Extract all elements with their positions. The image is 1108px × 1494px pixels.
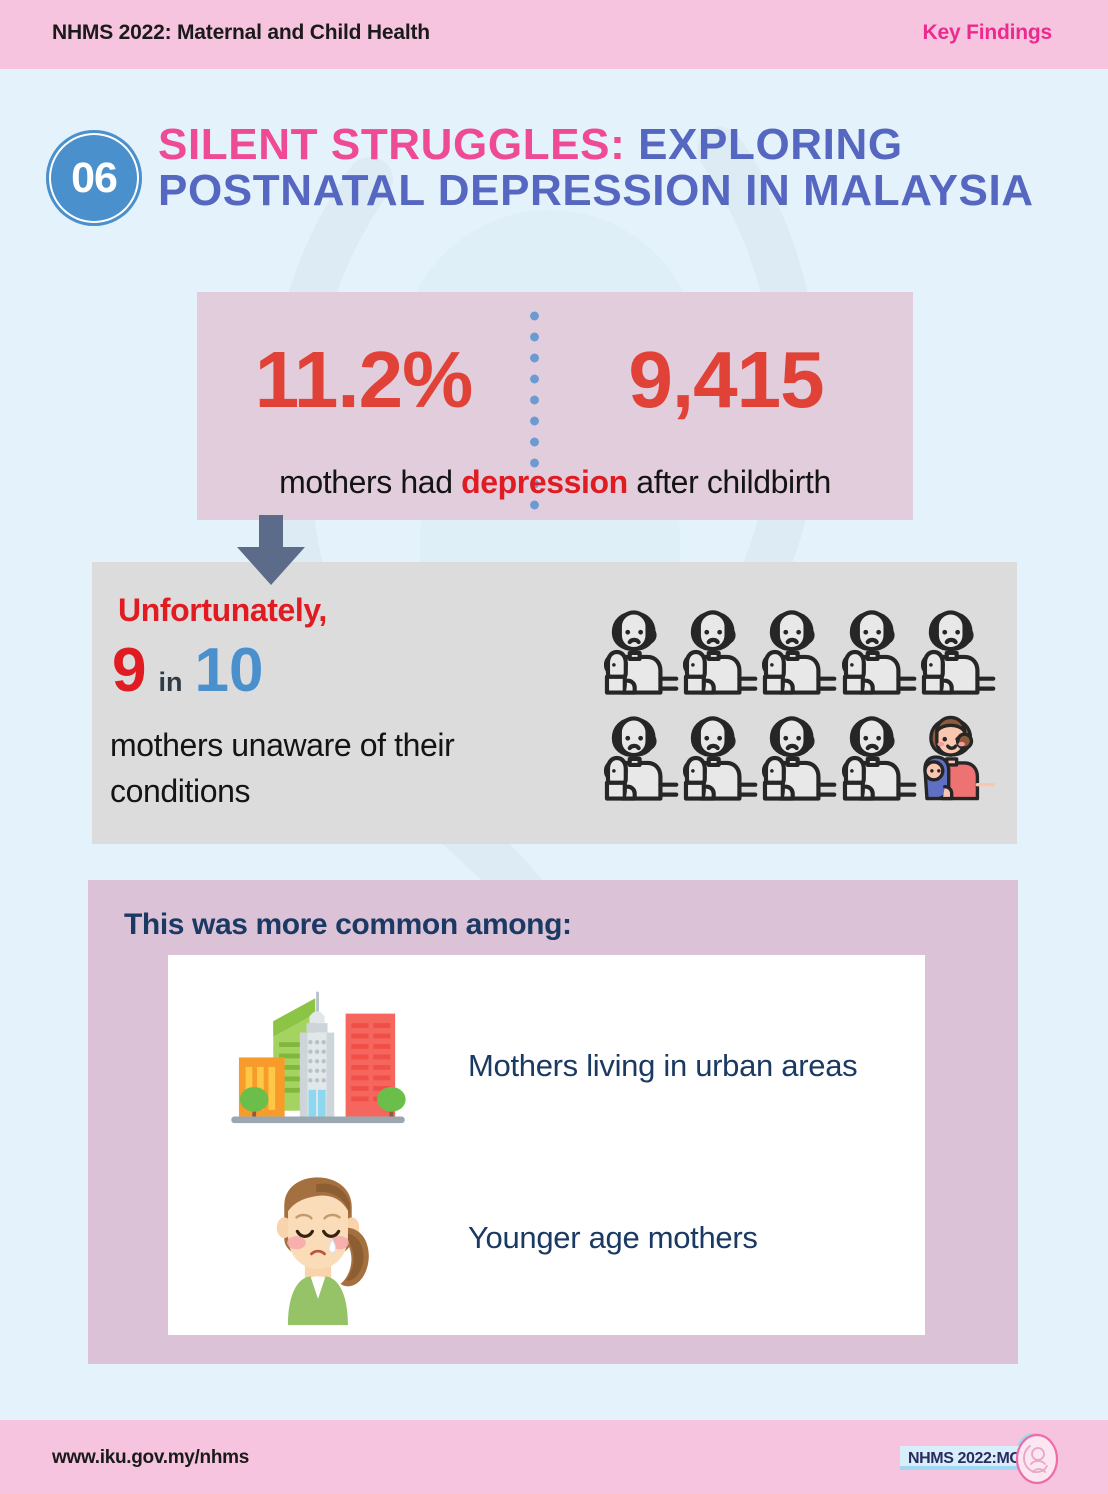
logo-text: NHMS 2022:MCH [908, 1450, 1032, 1467]
page-title: Silent Struggles: Exploring Postnatal De… [158, 122, 1068, 214]
title-line2: Postnatal Depression in Malaysia [158, 168, 1068, 214]
ratio-connector: in [158, 669, 182, 696]
common-among-card: Mothers living in urban areas [168, 955, 925, 1335]
nhms-logo: NHMS 2022:MCH [896, 1430, 1068, 1488]
mother-sad-outline-icon [683, 598, 762, 704]
mother-sad-outline-icon [683, 704, 762, 810]
stat-percent: 11.2% [197, 340, 530, 420]
caption-before: mothers had [279, 464, 461, 500]
footer-url: www.iku.gov.my/nhms [52, 1447, 249, 1469]
header-key-findings-label: Key Findings [923, 21, 1052, 45]
ratio-denominator: 10 [194, 640, 263, 702]
mother-sad-outline-icon [762, 704, 841, 810]
title-line1-blue: Exploring [625, 120, 902, 169]
down-arrow-icon [228, 515, 314, 587]
mother-sad-outline-icon [762, 598, 841, 704]
ratio-numerator: 9 [112, 640, 146, 702]
title-line1-pink: Silent Struggles: [158, 120, 625, 169]
mother-sad-outline-icon [921, 598, 1000, 704]
section-number-badge: 06 [46, 130, 142, 226]
footer-bar: www.iku.gov.my/nhms NHMS 2022:MCH [0, 1420, 1108, 1494]
list-item-label: Younger age mothers [468, 1217, 925, 1259]
mother-happy-color-icon [921, 704, 1000, 810]
crying-woman-icon [168, 1145, 468, 1330]
ratio-display: 9 in 10 [112, 640, 263, 702]
mother-sad-outline-icon [842, 598, 921, 704]
title-block: 06 Silent Struggles: Exploring Postnatal… [0, 112, 1108, 247]
statistics-box: 11.2% 9,415 mothers had depression after… [197, 292, 913, 520]
mother-pictogram-grid [604, 598, 1000, 810]
caption-after: after childbirth [628, 464, 831, 500]
caption-highlight: depression [461, 464, 628, 500]
unfortunately-label: Unfortunately, [118, 592, 327, 629]
header-bar: NHMS 2022: Maternal and Child Health Key… [0, 0, 1108, 69]
mother-sad-outline-icon [604, 598, 683, 704]
common-among-heading: This was more common among: [124, 908, 572, 942]
stat-count: 9,415 [539, 340, 913, 420]
mother-sad-outline-icon [604, 704, 683, 810]
list-item: Younger age mothers [168, 1145, 925, 1330]
list-item: Mothers living in urban areas [168, 973, 925, 1158]
header-title: NHMS 2022: Maternal and Child Health [52, 21, 430, 45]
mother-sad-outline-icon [842, 704, 921, 810]
section-number: 06 [71, 157, 117, 200]
city-buildings-icon [168, 973, 468, 1158]
list-item-label: Mothers living in urban areas [468, 1045, 925, 1087]
stats-caption: mothers had depression after childbirth [197, 464, 913, 501]
unaware-description: mothers unaware of their conditions [110, 722, 580, 815]
